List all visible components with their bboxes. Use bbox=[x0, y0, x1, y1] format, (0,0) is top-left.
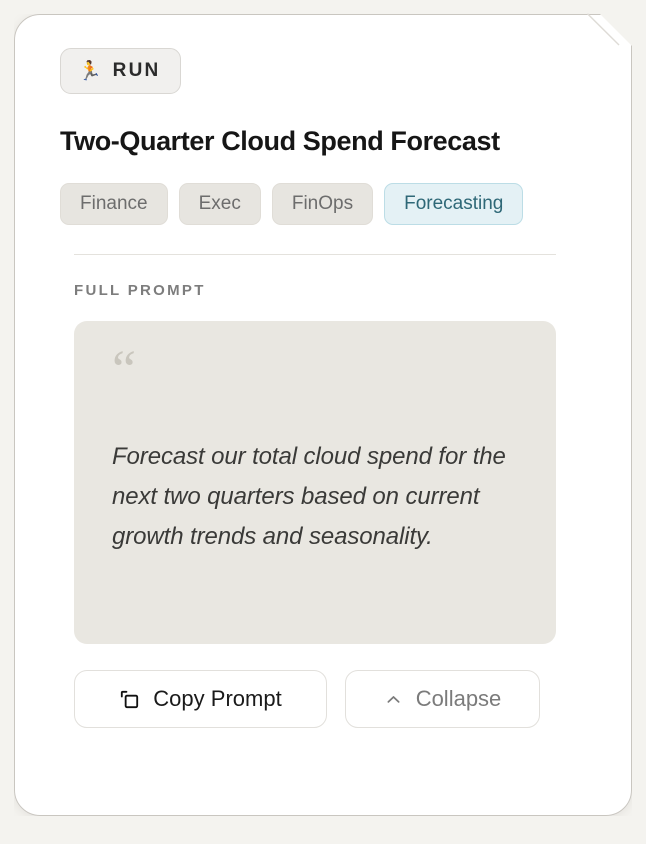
tag-list: Finance Exec FinOps Forecasting bbox=[60, 183, 600, 225]
copy-prompt-label: Copy Prompt bbox=[153, 686, 281, 712]
tag-finops[interactable]: FinOps bbox=[272, 183, 373, 225]
run-badge-label: RUN bbox=[113, 60, 161, 82]
page-title: Two-Quarter Cloud Spend Forecast bbox=[60, 126, 600, 157]
copy-prompt-button[interactable]: Copy Prompt bbox=[74, 670, 327, 728]
tag-finance[interactable]: Finance bbox=[60, 183, 168, 225]
run-badge[interactable]: 🏃 RUN bbox=[60, 48, 181, 94]
collapse-button[interactable]: Collapse bbox=[345, 670, 540, 728]
prompt-text: Forecast our total cloud spend for the n… bbox=[112, 437, 518, 556]
copy-icon bbox=[119, 689, 140, 710]
section-divider bbox=[74, 254, 556, 255]
running-person-icon: 🏃 bbox=[78, 62, 102, 81]
tag-exec[interactable]: Exec bbox=[179, 183, 261, 225]
quote-mark-icon: “ bbox=[112, 353, 518, 393]
tag-forecasting[interactable]: Forecasting bbox=[384, 183, 523, 225]
collapse-label: Collapse bbox=[416, 686, 502, 712]
prompt-quote-box: “ Forecast our total cloud spend for the… bbox=[74, 321, 556, 644]
action-bar: Copy Prompt Collapse bbox=[74, 670, 556, 728]
prompt-card: 🏃 RUN Two-Quarter Cloud Spend Forecast F… bbox=[14, 14, 632, 816]
chevron-up-icon bbox=[384, 690, 403, 709]
full-prompt-label: FULL PROMPT bbox=[74, 282, 600, 299]
